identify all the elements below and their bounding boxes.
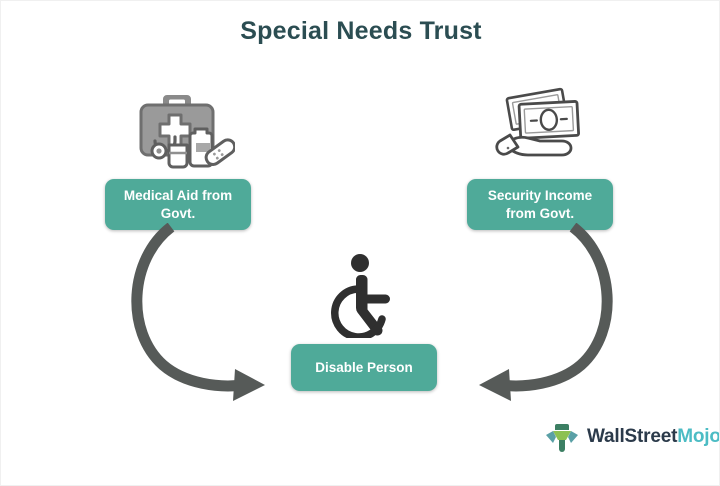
medical-kit-icon	[125, 79, 235, 169]
hand-holding-money-icon	[488, 79, 598, 169]
wallstreetmojo-logo[interactable]: WallStreetMojo	[544, 416, 712, 458]
wallstreetmojo-mark-icon	[544, 419, 580, 455]
arrow-security-to-person	[425, 223, 625, 403]
page-title: Special Needs Trust	[1, 17, 720, 46]
wheelchair-accessibility-icon	[326, 253, 406, 338]
logo-word-wallstreet: WallStreet	[587, 426, 677, 447]
logo-wordmark: WallStreetMojo	[587, 426, 720, 448]
logo-word-mojo: Mojo	[677, 426, 720, 447]
node-disable-person-label: Disable Person	[315, 359, 413, 377]
arrow-medical-to-person	[119, 223, 319, 403]
node-security-income-label: Security Income from Govt.	[475, 187, 605, 223]
node-medical-aid-label: Medical Aid from Govt.	[113, 187, 243, 223]
diagram-canvas: Special Needs Trust	[0, 0, 720, 486]
